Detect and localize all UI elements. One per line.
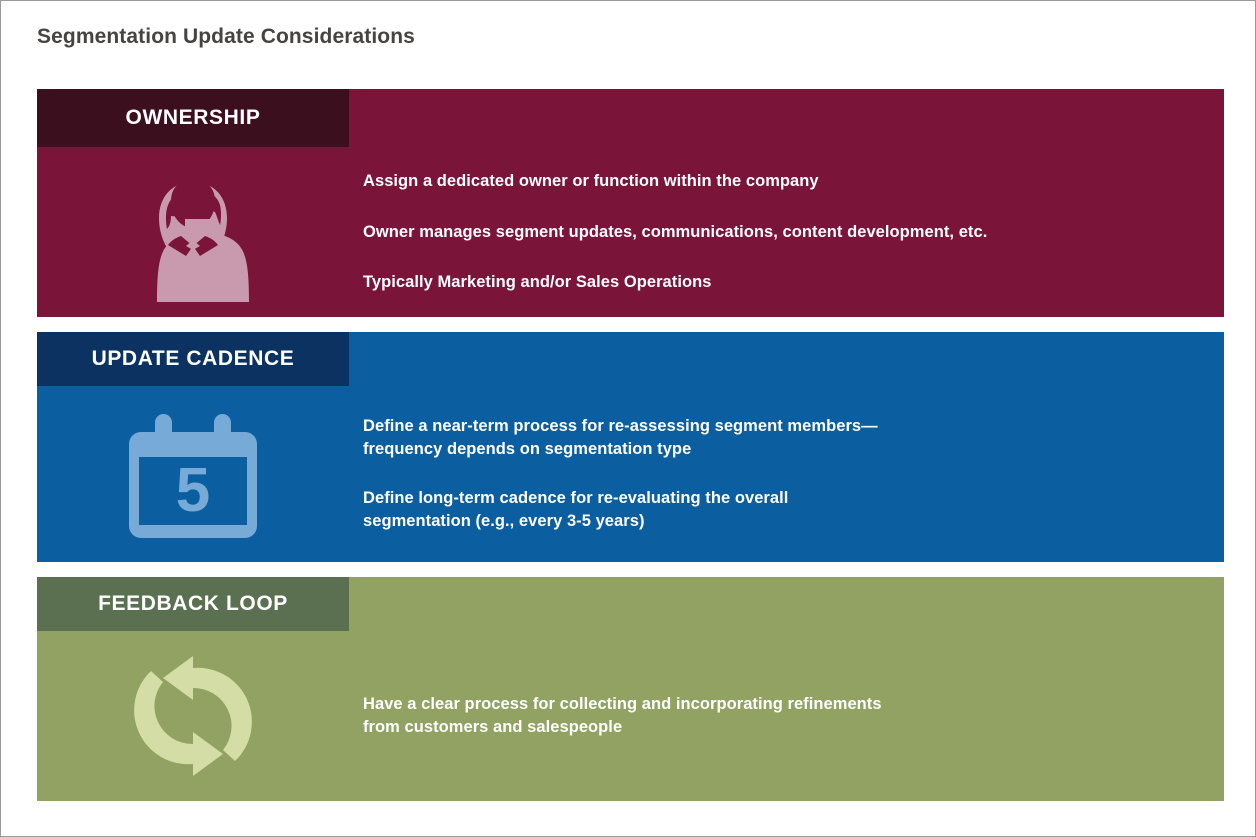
section-body-feedback-loop: Have a clear process for collecting and … (363, 631, 1210, 801)
bullet-text: Assign a dedicated owner or function wit… (363, 170, 1210, 193)
bullet-text: Define long-term cadence for re-evaluati… (363, 487, 1210, 533)
section-header-feedback-loop: FEEDBACK LOOP (37, 577, 349, 631)
section-header-label: FEEDBACK LOOP (98, 592, 288, 616)
section-header-update-cadence: UPDATE CADENCE (37, 332, 349, 386)
page-title: Segmentation Update Considerations (37, 25, 415, 49)
bullet-text: Owner manages segment updates, communica… (363, 221, 1210, 244)
bullet-text: Have a clear process for collecting and … (363, 693, 1210, 739)
section-feedback-loop: FEEDBACK LOOP Have a clear process for c… (37, 577, 1224, 801)
section-header-label: OWNERSHIP (126, 106, 261, 130)
section-body-ownership: Assign a dedicated owner or function wit… (363, 147, 1210, 317)
slide-canvas: Segmentation Update Considerations OWNER… (0, 0, 1256, 837)
section-update-cadence: UPDATE CADENCE 5 Define a near-term proc… (37, 332, 1224, 562)
bullet-text: Define a near-term process for re-assess… (363, 415, 1210, 461)
section-body-update-cadence: Define a near-term process for re-assess… (363, 386, 1210, 562)
calendar-icon: 5 (37, 386, 349, 562)
circular-arrows-loop-icon (37, 631, 349, 801)
section-header-label: UPDATE CADENCE (92, 347, 295, 371)
section-ownership: OWNERSHIP Assign a dedicated owner or fu… (37, 89, 1224, 317)
bullet-text: Typically Marketing and/or Sales Operati… (363, 271, 1210, 294)
calendar-day-number: 5 (176, 456, 210, 525)
section-header-ownership: OWNERSHIP (37, 89, 349, 147)
person-silhouette-icon (37, 147, 349, 317)
